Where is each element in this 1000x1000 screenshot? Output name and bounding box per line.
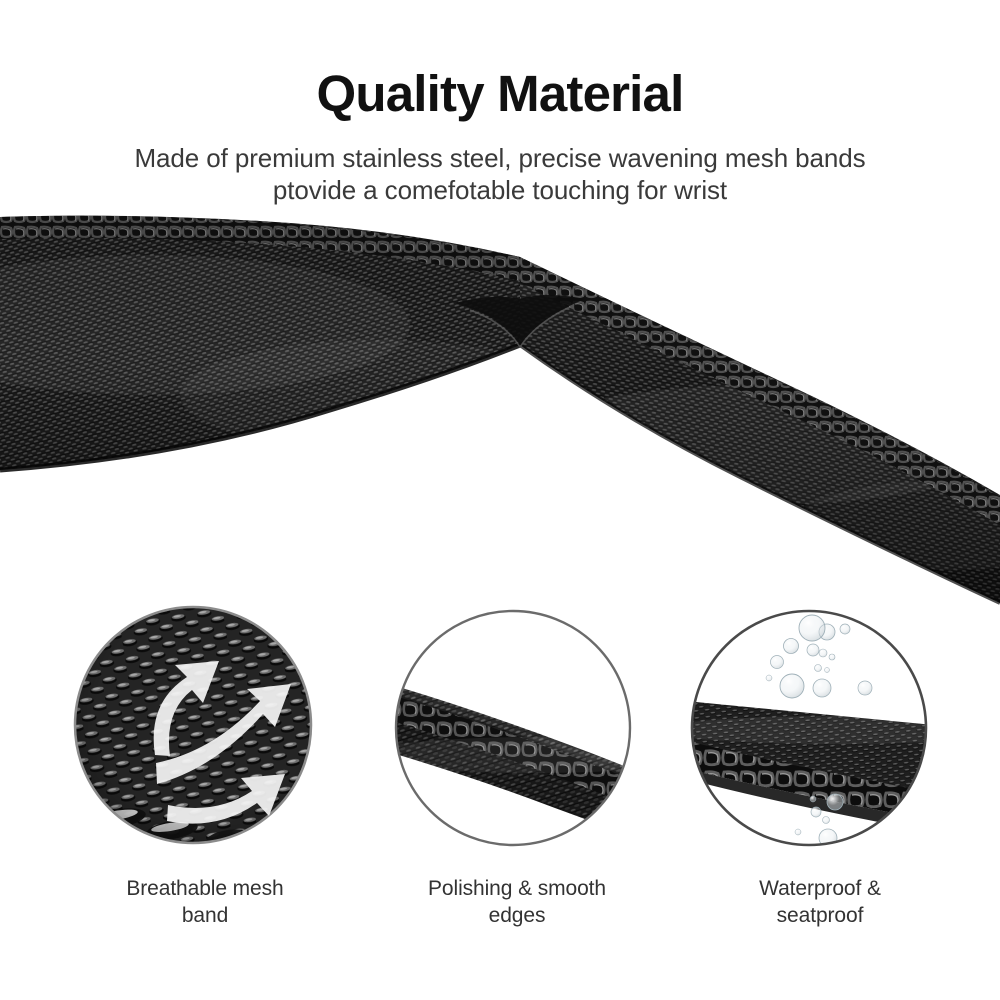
feature-breathable: Breathable mesh band — [60, 580, 350, 930]
subtitle-line-2: ptovide a comefotable touching for wrist — [0, 174, 1000, 206]
feature-waterproof: Waterproof & seatproof — [685, 580, 975, 930]
feature-breathable-caption: Breathable mesh band — [55, 875, 355, 929]
feature-waterproof-circle — [685, 580, 975, 870]
feature-polishing: Polishing & smooth edges — [385, 580, 675, 930]
caption-line-1: Waterproof & — [670, 875, 970, 902]
caption-line-2: seatproof — [670, 902, 970, 929]
page-title: Quality Material — [0, 64, 1000, 124]
caption-line-2: edges — [367, 902, 667, 929]
hero-band-left-section — [0, 195, 1000, 615]
caption-line-1: Breathable mesh — [55, 875, 355, 902]
feature-waterproof-caption: Waterproof & seatproof — [670, 875, 970, 929]
caption-line-1: Polishing & smooth — [367, 875, 667, 902]
feature-breathable-circle — [60, 580, 350, 870]
hero-band-image — [0, 195, 1000, 615]
caption-line-2: band — [55, 902, 355, 929]
header: Quality Material Made of premium stainle… — [0, 0, 1000, 210]
subtitle-line-1: Made of premium stainless steel, precise… — [0, 142, 1000, 174]
feature-polishing-caption: Polishing & smooth edges — [367, 875, 667, 929]
feature-polishing-circle — [385, 580, 675, 870]
